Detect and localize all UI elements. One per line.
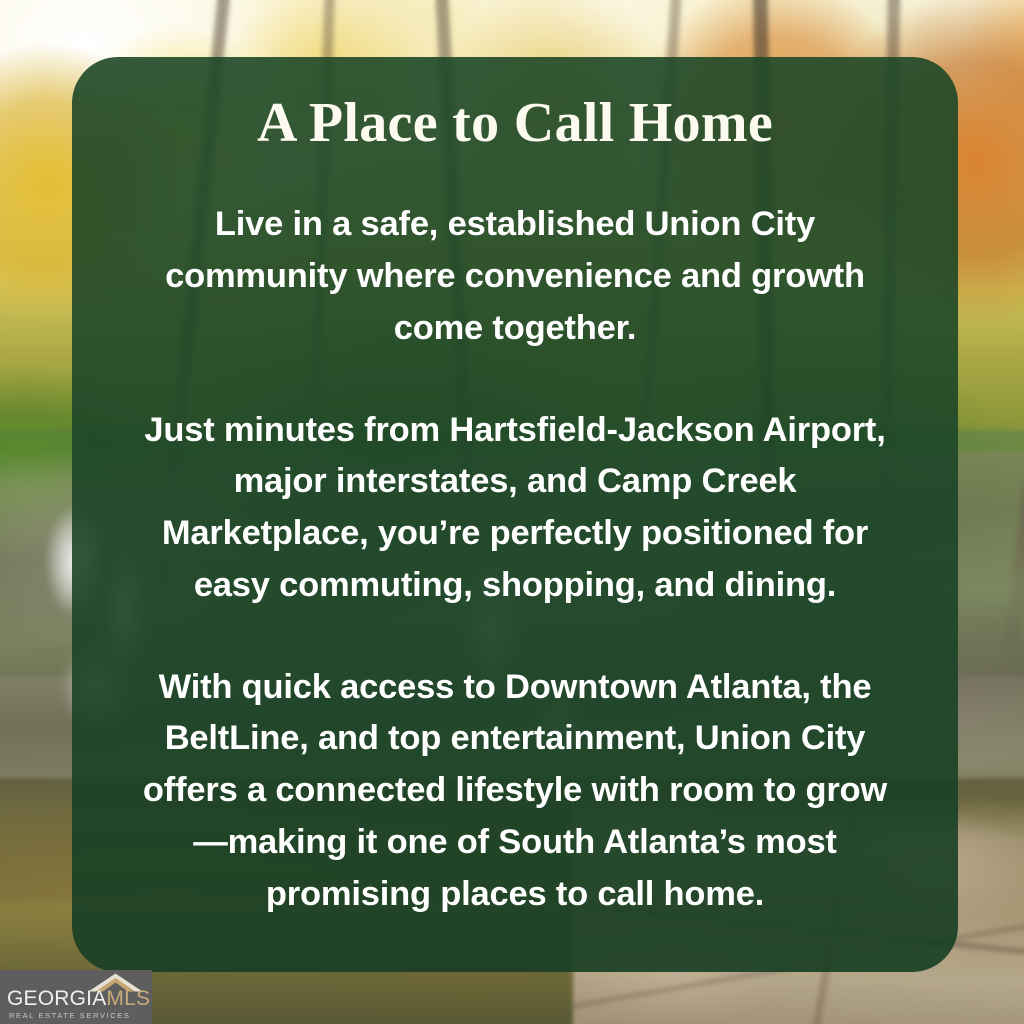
body-paragraph-1: Live in a safe, established Union City c… [106,199,924,354]
content-panel: A Place to Call Home Live in a safe, est… [72,57,958,972]
georgiamls-logo: GEORGIAMLS REAL ESTATE SERVICES [0,970,152,1024]
content-panel-inner: A Place to Call Home Live in a safe, est… [106,57,924,972]
logo-wordmark: GEORGIAMLS [7,988,148,1009]
logo-word-mls: MLS [106,987,150,1010]
body-paragraph-3: With quick access to Downtown Atlanta, t… [106,662,924,921]
page-title: A Place to Call Home [106,57,924,153]
marketing-graphic: A Place to Call Home Live in a safe, est… [0,0,1024,1024]
logo-word-georgia: GEORGIA [7,987,106,1010]
logo-tagline: REAL ESTATE SERVICES [9,1011,130,1020]
body-paragraph-2: Just minutes from Hartsfield-Jackson Air… [106,405,924,612]
